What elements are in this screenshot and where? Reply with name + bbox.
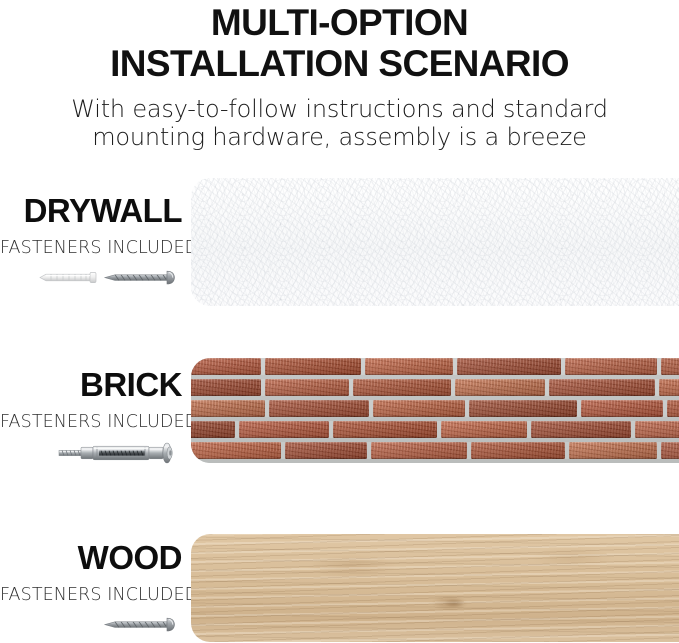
subhead-line-1: With easy-to-follow instructions and sta… xyxy=(0,95,679,123)
brick-course xyxy=(191,400,679,417)
drywall-material-panel xyxy=(191,178,679,306)
brick xyxy=(285,442,367,459)
plastic-wall-anchor-icon xyxy=(38,266,100,290)
fasteners-note-drywall: FASTENERS INCLUDED xyxy=(0,228,182,258)
page-title: MULTI-OPTION INSTALLATION SCENARIO xyxy=(0,0,679,84)
brick xyxy=(333,421,437,438)
brick xyxy=(471,442,565,459)
installation-row-drywall: DRYWALL FASTENERS INCLUDED xyxy=(0,178,679,306)
page-subtitle: With easy-to-follow instructions and sta… xyxy=(0,84,679,151)
brick-course xyxy=(191,442,679,459)
headline-line-1: MULTI-OPTION xyxy=(0,2,679,43)
wood-material-panel xyxy=(191,534,679,642)
brick xyxy=(469,400,577,417)
brick xyxy=(365,358,453,375)
brick xyxy=(569,442,657,459)
brick-wall-texture xyxy=(191,358,679,463)
brick xyxy=(373,400,465,417)
surface-label-drywall: DRYWALL xyxy=(0,178,182,228)
sleeve-anchor-bolt-icon xyxy=(57,440,181,466)
brick xyxy=(661,358,679,375)
screw-icon xyxy=(103,266,181,290)
fasteners-note-wood: FASTENERS INCLUDED xyxy=(0,575,182,605)
brick-course xyxy=(191,379,679,396)
brick xyxy=(457,358,561,375)
wood-hardware-row xyxy=(0,613,182,643)
brick xyxy=(265,379,349,396)
brick xyxy=(455,379,545,396)
brick-material-panel xyxy=(191,358,679,463)
brick xyxy=(191,421,235,438)
brick xyxy=(239,421,329,438)
drywall-hardware-row xyxy=(0,266,182,296)
brick-course xyxy=(191,358,679,375)
brick xyxy=(441,421,527,438)
brick xyxy=(191,358,261,375)
installation-row-brick: BRICK FASTENERS INCLUDED xyxy=(0,358,679,464)
brick xyxy=(549,379,655,396)
surface-label-wood: WOOD xyxy=(0,534,182,575)
fasteners-note-brick: FASTENERS INCLUDED xyxy=(0,402,182,432)
brick xyxy=(353,379,451,396)
brick xyxy=(581,400,663,417)
header: MULTI-OPTION INSTALLATION SCENARIO With … xyxy=(0,0,679,151)
brick xyxy=(269,400,369,417)
wood-label-column: WOOD FASTENERS INCLUDED xyxy=(0,534,182,643)
brick-label-column: BRICK FASTENERS INCLUDED xyxy=(0,358,182,470)
brick xyxy=(667,400,679,417)
brick xyxy=(661,442,679,459)
wood-screw-icon xyxy=(103,613,181,637)
brick xyxy=(371,442,467,459)
drywall-label-column: DRYWALL FASTENERS INCLUDED xyxy=(0,178,182,296)
headline-line-2: INSTALLATION SCENARIO xyxy=(0,43,679,84)
brick xyxy=(659,379,679,396)
brick xyxy=(531,421,631,438)
brick xyxy=(191,379,261,396)
installation-row-wood: WOOD FASTENERS INCLUDED xyxy=(0,534,679,642)
brick xyxy=(191,442,281,459)
surface-label-brick: BRICK xyxy=(0,358,182,402)
brick xyxy=(191,400,265,417)
subhead-line-2: mounting hardware, assembly is a breeze xyxy=(0,123,679,151)
brick-hardware-row xyxy=(0,440,182,470)
brick xyxy=(635,421,679,438)
brick xyxy=(565,358,657,375)
brick xyxy=(265,358,361,375)
brick-course xyxy=(191,421,679,438)
